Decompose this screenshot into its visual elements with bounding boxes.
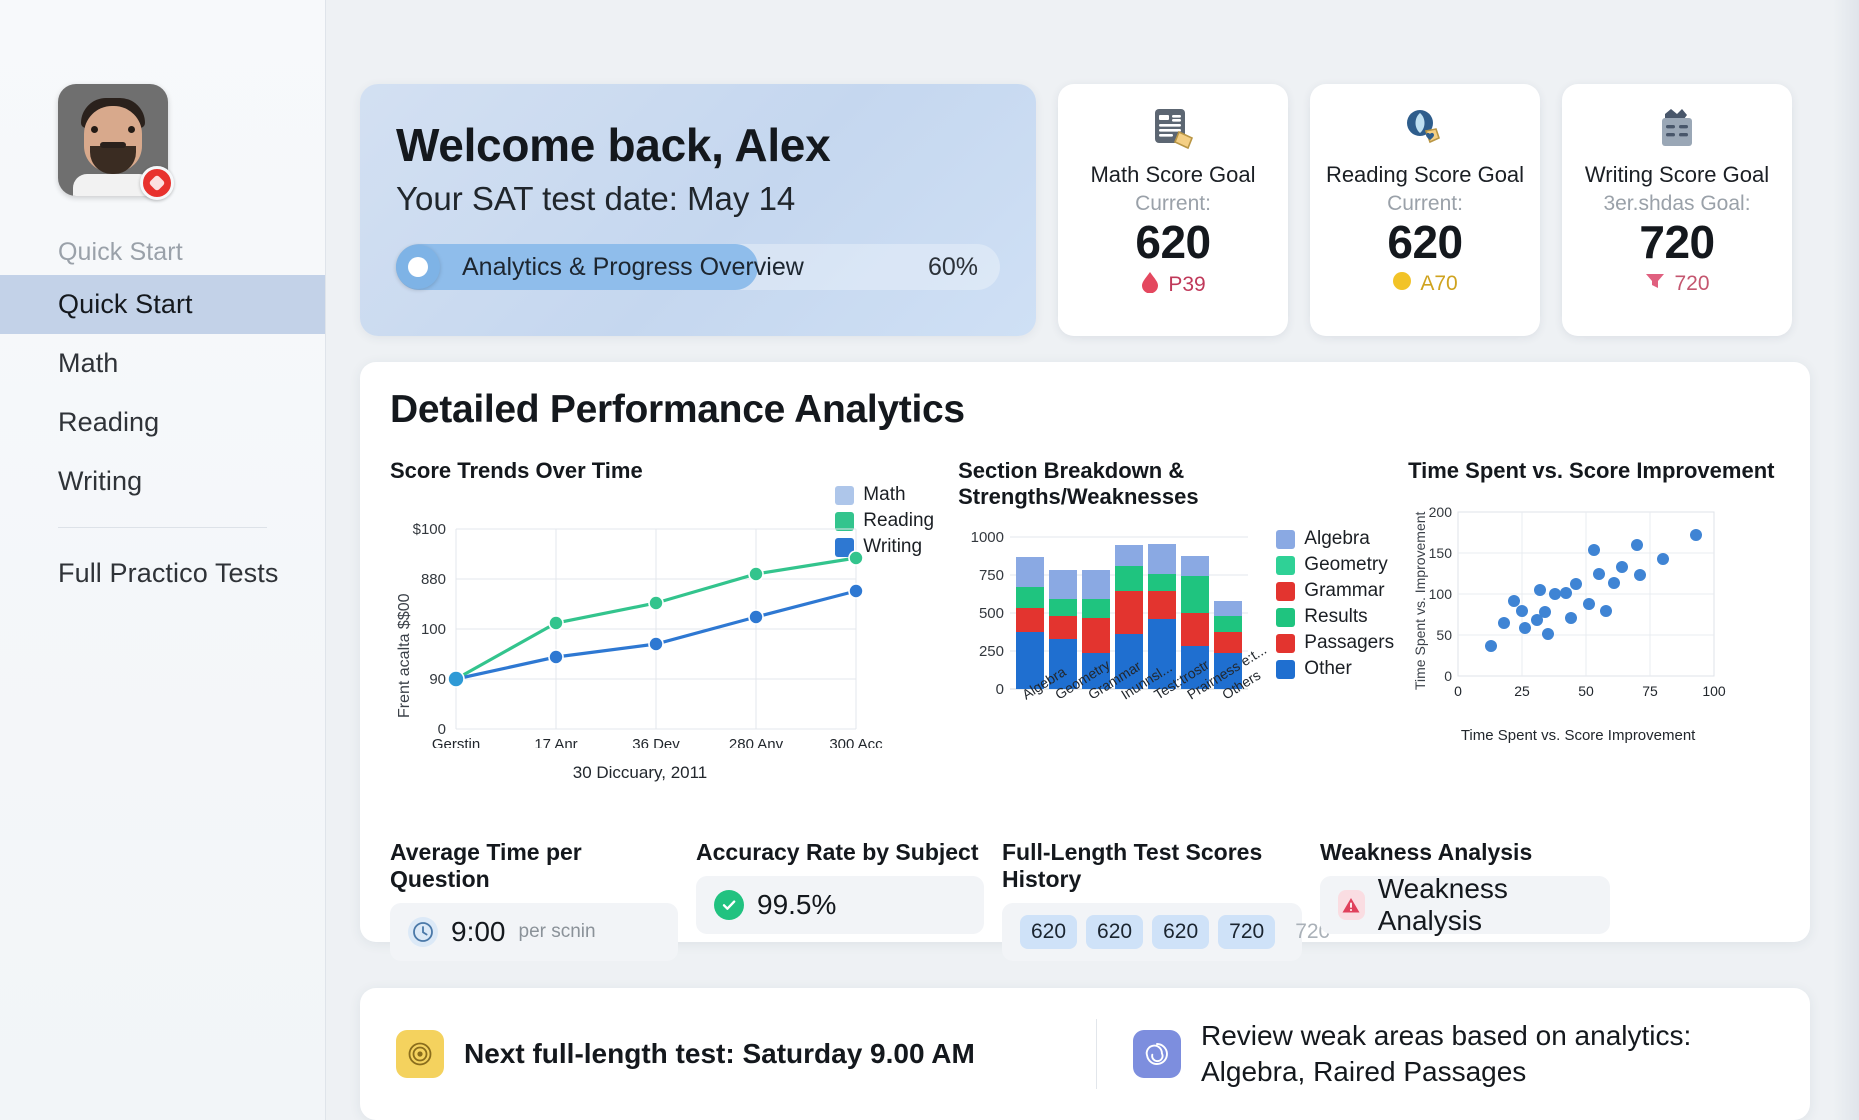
legend-label: Results [1304, 606, 1367, 628]
svg-text:200: 200 [1429, 504, 1453, 520]
metric-value: Weakness Analysis [1378, 873, 1592, 937]
legend-swatch-other [1276, 660, 1295, 679]
stat-badge-text: P39 [1168, 273, 1205, 297]
svg-text:17 Anr: 17 Anr [534, 736, 577, 748]
stat-card-math[interactable]: Math Score Goal Current: 620 P39 [1058, 84, 1288, 336]
metric-test-scores-history: Full-Length Test Scores History 620 620 … [1002, 839, 1302, 961]
legend-item: Algebra [1276, 528, 1394, 550]
legend-label: Passagers [1304, 632, 1394, 654]
chart-score-trends: Score Trends Over Time Math Reading Writ… [390, 458, 938, 817]
svg-text:300 Acc: 300 Acc [829, 736, 883, 748]
legend-swatch-algebra [1276, 530, 1295, 549]
pink-funnel-icon [1644, 271, 1666, 297]
spiral-blue-icon [1133, 1030, 1181, 1078]
sidebar-section-label: Quick Start [0, 230, 325, 275]
sidebar-item-reading[interactable]: Reading [0, 393, 325, 452]
stat-value: 620 [1387, 216, 1462, 269]
svg-text:Gerstin: Gerstin [432, 736, 480, 748]
legend-swatch-passagers [1276, 634, 1295, 653]
line-chart-svg: $100 880 100 90 0 [390, 518, 890, 748]
chart-title: Time Spent vs. Score Improvement [1408, 458, 1780, 484]
banner-review-text: Review weak areas based on analytics: Al… [1201, 1018, 1691, 1090]
avatar-eye-left [91, 126, 98, 133]
score-chip[interactable]: 720 [1218, 915, 1275, 949]
legend-item: Grammar [1276, 580, 1394, 602]
analytics-panel: Detailed Performance Analytics Score Tre… [360, 362, 1810, 942]
page-title: Detailed Performance Analytics [390, 388, 1780, 432]
metric-title: Average Time per Question [390, 839, 678, 893]
writing-clipboard-icon [1651, 106, 1703, 152]
top-cards-row: Welcome back, Alex Your SAT test date: M… [360, 84, 1817, 336]
svg-text:100: 100 [1702, 683, 1726, 699]
welcome-title: Welcome back, Alex [396, 118, 1000, 172]
reading-badge-icon [1399, 106, 1451, 152]
stat-badge-text: A70 [1420, 272, 1457, 296]
notification-badge-icon[interactable] [140, 166, 174, 200]
x-axis-label: Time Spent vs. Score Improvement [1408, 727, 1748, 744]
banner-next-test[interactable]: Next full-length test: Saturday 9.00 AM [396, 1030, 1096, 1078]
svg-text:$100: $100 [413, 521, 446, 538]
legend-item: Math [835, 484, 934, 506]
check-circle-icon [714, 890, 744, 920]
metric-weakness-analysis: Weakness Analysis Weakness Analysis [1320, 839, 1610, 961]
svg-text:75: 75 [1642, 683, 1658, 699]
legend-label: Geometry [1304, 554, 1387, 576]
chart-legend: Algebra Geometry Grammar Results Passage… [1276, 528, 1394, 684]
avatar-mouth [100, 142, 126, 148]
svg-text:750: 750 [979, 567, 1004, 584]
stat-card-writing[interactable]: Writing Score Goal 3er.shdas Goal: 720 7… [1562, 84, 1792, 336]
sidebar: Quick Start Quick Start Math Reading Wri… [0, 0, 326, 1120]
svg-text:880: 880 [421, 571, 446, 588]
sidebar-item-full-practice-tests[interactable]: Full Practico Tests [0, 544, 325, 603]
avatar-beard [90, 146, 136, 174]
stat-badge: 720 [1644, 271, 1709, 297]
metric-accuracy-rate: Accuracy Rate by Subject 99.5% [696, 839, 984, 961]
avatar[interactable] [58, 84, 168, 196]
chart-title: Section Breakdown & Strengths/Weaknesses [958, 458, 1388, 510]
metric-value: 9:00 [451, 916, 506, 948]
legend-swatch-results [1276, 608, 1295, 627]
svg-text:0: 0 [1444, 668, 1452, 684]
scatter-chart-area: Time Spent vs. Improvement 200 150 100 5… [1408, 500, 1780, 744]
document-score-icon [1147, 106, 1199, 152]
svg-text:100: 100 [1429, 586, 1453, 602]
banner-review-weak-areas[interactable]: Review weak areas based on analytics: Al… [1133, 1018, 1691, 1090]
banner-divider [1096, 1019, 1097, 1089]
metric-title: Full-Length Test Scores History [1002, 839, 1302, 893]
legend-label: Algebra [1304, 528, 1370, 550]
svg-text:36 Dev: 36 Dev [632, 736, 680, 748]
banner-review-line2: Algebra, Raired Passages [1201, 1054, 1691, 1090]
avatar-eye-right [128, 126, 135, 133]
x-axis-label: 30 Diccuary, 2011 [390, 763, 890, 783]
progress-label: Analytics & Progress Overview [462, 253, 804, 282]
svg-text:150: 150 [1429, 545, 1453, 561]
metric-title: Weakness Analysis [1320, 839, 1610, 866]
score-chip[interactable]: 620 [1086, 915, 1143, 949]
svg-text:50: 50 [1437, 627, 1453, 643]
legend-item: Passagers [1276, 632, 1394, 654]
stat-badge-text: 720 [1674, 272, 1709, 296]
app-root: Quick Start Quick Start Math Reading Wri… [0, 0, 1859, 1120]
progress-overview-bar[interactable]: Analytics & Progress Overview 60% [396, 244, 1000, 290]
legend-label: Other [1304, 658, 1352, 680]
legend-label: Grammar [1304, 580, 1384, 602]
chart-section-breakdown: Section Breakdown & Strengths/Weaknesses… [958, 458, 1388, 817]
stat-badge: A70 [1392, 271, 1457, 297]
stat-title: Reading Score Goal [1326, 162, 1524, 188]
metric-value: 99.5% [757, 889, 836, 921]
svg-text:25: 25 [1514, 683, 1530, 699]
legend-swatch-geometry [1276, 556, 1295, 575]
chart-time-vs-score: Time Spent vs. Score Improvement Time Sp… [1408, 458, 1780, 817]
svg-text:1000: 1000 [971, 529, 1004, 546]
sidebar-item-quick-start[interactable]: Quick Start [0, 275, 325, 334]
svg-text:100: 100 [421, 621, 446, 638]
target-gold-icon [396, 1030, 444, 1078]
metric-title: Accuracy Rate by Subject [696, 839, 984, 866]
stat-value: 720 [1639, 216, 1714, 269]
metric-box[interactable]: 99.5% [696, 876, 984, 934]
yellow-circle-icon [1392, 271, 1412, 297]
score-chip[interactable]: 620 [1152, 915, 1209, 949]
warning-triangle-icon [1338, 890, 1365, 920]
welcome-card: Welcome back, Alex Your SAT test date: M… [360, 84, 1036, 336]
progress-percent: 60% [928, 253, 978, 282]
stat-value: 620 [1135, 216, 1210, 269]
metric-average-time: Average Time per Question 9:00 per scnin [390, 839, 678, 961]
banner-review-line1: Review weak areas based on analytics: [1201, 1018, 1691, 1054]
welcome-subtitle: Your SAT test date: May 14 [396, 180, 1000, 218]
stat-subtitle: Current: [1387, 192, 1463, 216]
stat-title: Math Score Goal [1090, 162, 1255, 188]
legend-item: Results [1276, 606, 1394, 628]
svg-text:0: 0 [996, 681, 1004, 698]
stat-subtitle: Current: [1135, 192, 1211, 216]
legend-swatch-math [835, 486, 854, 505]
metric-unit: per scnin [519, 921, 596, 943]
bar-chart-area: 1000 750 500 250 0 [958, 522, 1388, 817]
banner-next-test-text: Next full-length test: Saturday 9.00 AM [464, 1036, 975, 1072]
metric-box[interactable]: 620 620 620 720 720 [1002, 903, 1302, 961]
y-axis-label: Frent acalta $$00 [396, 593, 414, 718]
y-axis-label: Time Spent vs. Improvement [1412, 512, 1428, 690]
sidebar-item-writing[interactable]: Writing [0, 452, 325, 511]
legend-label: Math [863, 484, 905, 506]
metric-box[interactable]: 9:00 per scnin [390, 903, 678, 961]
svg-text:500: 500 [979, 605, 1004, 622]
clock-icon [408, 917, 438, 947]
sidebar-divider [58, 527, 267, 528]
legend-item: Geometry [1276, 554, 1394, 576]
stat-subtitle: 3er.shdas Goal: [1603, 192, 1750, 216]
charts-row: Score Trends Over Time Math Reading Writ… [390, 458, 1780, 817]
chart-title: Score Trends Over Time [390, 458, 938, 484]
stat-card-reading[interactable]: Reading Score Goal Current: 620 A70 [1310, 84, 1540, 336]
bottom-banner: Next full-length test: Saturday 9.00 AM … [360, 988, 1810, 1120]
svg-text:90: 90 [429, 671, 446, 688]
scatter-chart-svg: 200 150 100 50 0 [1408, 500, 1748, 720]
svg-text:250: 250 [979, 643, 1004, 660]
sidebar-item-math[interactable]: Math [0, 334, 325, 393]
score-chip[interactable]: 620 [1020, 915, 1077, 949]
metric-box[interactable]: Weakness Analysis [1320, 876, 1610, 934]
stat-badge: P39 [1140, 271, 1205, 299]
svg-text:280 Anv: 280 Anv [729, 736, 784, 748]
svg-text:50: 50 [1578, 683, 1594, 699]
svg-text:0: 0 [1454, 683, 1462, 699]
main-content: Welcome back, Alex Your SAT test date: M… [326, 0, 1859, 1120]
legend-item: Other [1276, 658, 1394, 680]
line-chart-area: Frent acalta $$00 $100 880 100 90 0 [390, 518, 938, 748]
metrics-row: Average Time per Question 9:00 per scnin… [390, 839, 1780, 961]
stat-title: Writing Score Goal [1585, 162, 1769, 188]
legend-swatch-grammar [1276, 582, 1295, 601]
red-drop-icon [1140, 271, 1160, 299]
progress-knob-icon[interactable] [396, 245, 440, 289]
